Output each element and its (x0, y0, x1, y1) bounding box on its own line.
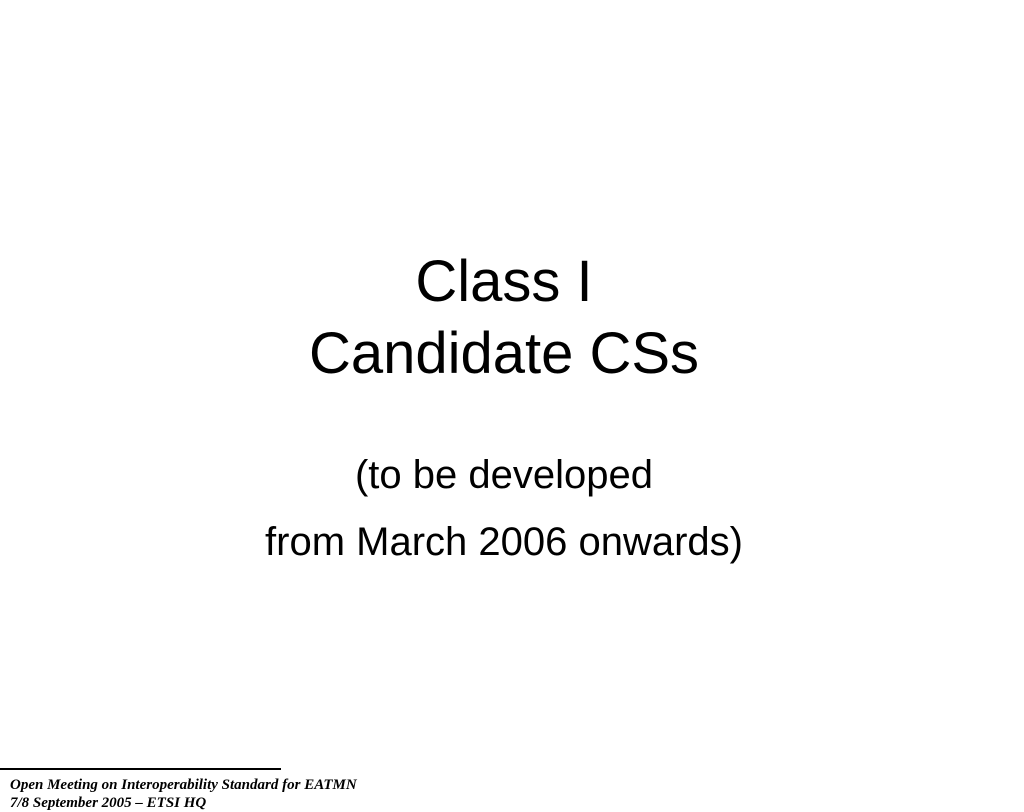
slide-title-line-2: Candidate CSs (0, 318, 1024, 390)
slide-subtitle-line-2: from March 2006 onwards) (0, 509, 1024, 576)
slide-subtitle-line-1: (to be developed (0, 442, 1024, 509)
slide-subtitle: (to be developed from March 2006 onwards… (0, 442, 1024, 576)
footer-meeting-title: Open Meeting on Interoperability Standar… (10, 776, 650, 794)
footer-divider-rule (0, 768, 281, 770)
footer-text-block: Open Meeting on Interoperability Standar… (10, 776, 650, 812)
slide-title: Class I Candidate CSs (0, 246, 1024, 390)
presentation-slide: Class I Candidate CSs (to be developed f… (0, 0, 1024, 768)
footer-date-location: 7/8 September 2005 – ETSI HQ (10, 794, 650, 812)
slide-title-line-1: Class I (0, 246, 1024, 318)
